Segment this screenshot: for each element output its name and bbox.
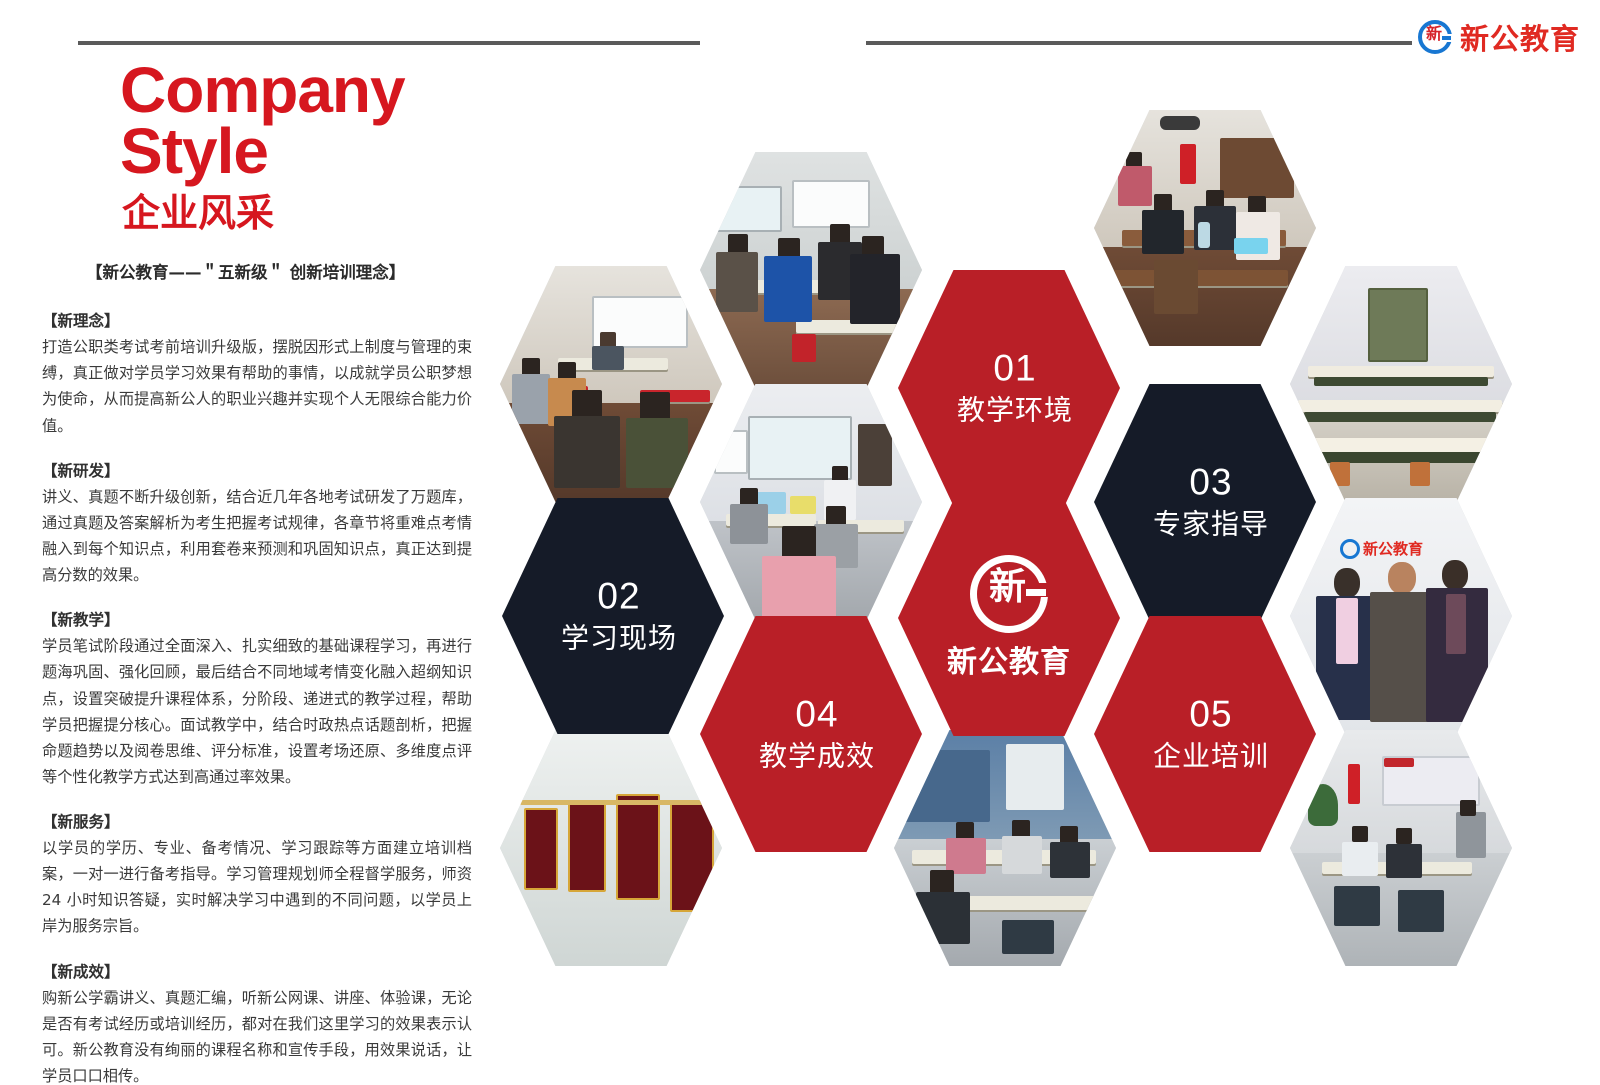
photo-three-staff-in-front-of-logo-wall: 新公教育 xyxy=(1290,498,1512,734)
divider-line-left xyxy=(78,41,700,45)
concept-block-heading: 【新教学】 xyxy=(42,608,472,630)
hex-item-01-number: 01 xyxy=(910,348,1120,391)
brand-wordmark: 新公教育 xyxy=(1460,16,1580,58)
photo-scene xyxy=(1290,266,1512,502)
center-logo-mark-icon: 新 xyxy=(970,555,1048,633)
photo-scene xyxy=(500,266,722,502)
hex-item-03-text: 专家指导 xyxy=(1106,506,1316,542)
center-logo: 新 新公教育 xyxy=(898,555,1120,681)
photo-corporate-training-seminar xyxy=(1290,730,1512,966)
brand-logo-mark-icon: 新 xyxy=(1418,20,1452,54)
hex-item-05-number: 05 xyxy=(1106,694,1316,737)
hex-item-04-text: 教学成效 xyxy=(712,738,922,774)
hex-item-05-text: 企业培训 xyxy=(1106,738,1316,774)
wall-logo-icon: 新公教育 xyxy=(1340,538,1423,559)
hex-item-01-label: 01 教学环境 xyxy=(898,348,1120,429)
hex-item-02-text: 学习现场 xyxy=(514,620,724,656)
concept-block-body: 学员笔试阶段通过全面深入、扎实细致的基础课程学习，再进行题海巩固、强化回顾，最后… xyxy=(42,633,472,790)
photo-empty-classroom-desks xyxy=(1290,266,1512,502)
hex-item-05-label: 05 企业培训 xyxy=(1094,694,1316,775)
hex-item-03-number: 03 xyxy=(1106,462,1316,505)
center-logo-mark-char: 新 xyxy=(989,568,1026,605)
photo-scene xyxy=(894,730,1116,966)
concept-block-heading: 【新理念】 xyxy=(42,309,472,331)
hex-center-logo: 新 新公教育 xyxy=(898,500,1120,736)
photo-scene xyxy=(1094,110,1316,346)
hex-item-04-number: 04 xyxy=(712,694,922,737)
concept-block: 【新成效】 购新公学霸讲义、真题汇编，听新公网课、讲座、体验课，无论是否有考试经… xyxy=(42,960,472,1085)
concept-block: 【新服务】 以学员的学历、专业、备考情况、学习跟踪等方面建立培训档案，一对一进行… xyxy=(42,810,472,940)
hex-item-01[interactable]: 01 教学环境 xyxy=(898,270,1120,506)
hex-item-05[interactable]: 05 企业培训 xyxy=(1094,616,1316,852)
concept-block-body: 以学员的学历、专业、备考情况、学习跟踪等方面建立培训档案，一对一进行备考指导。学… xyxy=(42,835,472,940)
page-subtitle: 【新公教育——＂五新级＂ 创新培训理念】 xyxy=(42,259,472,283)
photo-scene xyxy=(700,384,922,620)
photo-conference-table-discussion xyxy=(1094,110,1316,346)
slide-canvas: 新 新公教育 Company Style 企业风采 【新公教育——＂五新级＂ 创… xyxy=(0,0,1600,1085)
hex-item-01-text: 教学环境 xyxy=(910,392,1120,428)
hex-item-04-label: 04 教学成效 xyxy=(700,694,922,775)
photo-award-banners-on-wall xyxy=(500,730,722,966)
page-title-en-line2: Style xyxy=(120,121,472,182)
brand-logo-mark-char: 新 xyxy=(1426,26,1442,42)
concept-block: 【新教学】 学员笔试阶段通过全面深入、扎实细致的基础课程学习，再进行题海巩固、强… xyxy=(42,608,472,790)
hex-item-02-number: 02 xyxy=(514,576,724,619)
hex-item-04[interactable]: 04 教学成效 xyxy=(700,616,922,852)
concept-block-heading: 【新成效】 xyxy=(42,960,472,982)
divider-line-right xyxy=(866,41,1412,45)
photo-scene xyxy=(500,730,722,966)
center-logo-wordmark: 新公教育 xyxy=(947,637,1071,681)
concept-block: 【新研发】 讲义、真题不断升级创新，结合近几年各地考试研发了万题库，通过真题及答… xyxy=(42,459,472,589)
photo-scene xyxy=(700,152,922,388)
hex-item-02-label: 02 学习现场 xyxy=(502,576,724,657)
page-title-en: Company Style xyxy=(42,60,472,182)
concept-block-list: 【新理念】 打造公职类考试考前培训升级版，摆脱因形式上制度与管理的束缚，真正做对… xyxy=(42,309,472,1085)
concept-block-heading: 【新研发】 xyxy=(42,459,472,481)
photo-classroom-students-taking-notes xyxy=(700,152,922,388)
concept-block: 【新理念】 打造公职类考试考前培训升级版，摆脱因形式上制度与管理的束缚，真正做对… xyxy=(42,309,472,439)
left-text-column: Company Style 企业风采 【新公教育——＂五新级＂ 创新培训理念】 … xyxy=(42,60,472,1085)
brand-logo: 新 新公教育 xyxy=(1418,16,1580,58)
page-title-cn: 企业风采 xyxy=(42,190,472,238)
photo-meeting-room-seminar xyxy=(500,266,722,502)
photo-students-exam-hall xyxy=(894,730,1116,966)
concept-block-heading: 【新服务】 xyxy=(42,810,472,832)
concept-block-body: 讲义、真题不断升级创新，结合近几年各地考试研发了万题库，通过真题及答案解析为考生… xyxy=(42,484,472,589)
photo-scene: 新公教育 xyxy=(1290,498,1512,734)
hex-item-02[interactable]: 02 学习现场 xyxy=(502,498,724,734)
hex-item-03[interactable]: 03 专家指导 xyxy=(1094,384,1316,620)
photo-scene xyxy=(1290,730,1512,966)
photo-lecture-with-projector xyxy=(700,384,922,620)
hex-item-03-label: 03 专家指导 xyxy=(1094,462,1316,543)
concept-block-body: 打造公职类考试考前培训升级版，摆脱因形式上制度与管理的束缚，真正做对学员学习效果… xyxy=(42,334,472,439)
concept-block-body: 购新公学霸讲义、真题汇编，听新公网课、讲座、体验课，无论是否有考试经历或培训经历… xyxy=(42,985,472,1085)
